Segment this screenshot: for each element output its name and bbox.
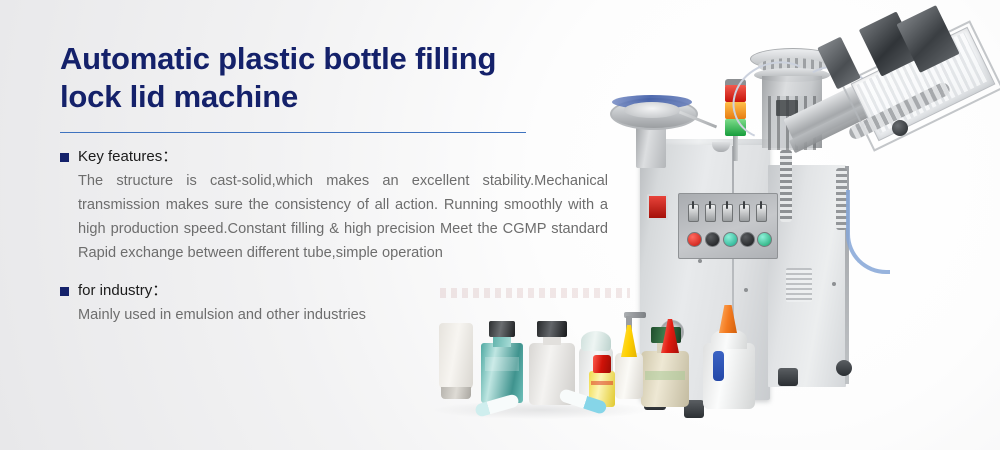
- machine-spring-column: [780, 150, 792, 222]
- bottle-white-large-blue-stripe: [713, 351, 724, 381]
- bottle-yellow-tip-cap: [621, 325, 637, 357]
- bottle-yellow-tip: [615, 353, 643, 399]
- square-bullet-icon: [60, 153, 69, 162]
- panel-switch: [705, 204, 716, 222]
- bottle-white-large: [703, 343, 755, 409]
- cabinet-screw: [744, 288, 748, 292]
- panel-button-green: [723, 232, 738, 247]
- machine-caster: [836, 360, 852, 376]
- bottle-teal-glass: [481, 343, 523, 403]
- panel-button-black: [740, 232, 755, 247]
- section-key-features: Key features： The structure is cast-soli…: [60, 147, 620, 265]
- key-features-label: Key features：: [78, 147, 177, 167]
- square-bullet-icon: [60, 287, 69, 296]
- bottle-frosted-tube-cap: [441, 387, 471, 399]
- blue-air-hose: [846, 190, 890, 274]
- conveyor-drive-wheel: [892, 120, 908, 136]
- cabinet-screw: [832, 282, 836, 286]
- page-title-line-2: lock lid machine: [60, 78, 620, 116]
- text-panel: Automatic plastic bottle filling lock li…: [60, 40, 620, 327]
- bottle-frosted-tube: [439, 323, 473, 391]
- bullet-row-key-features: Key features：: [60, 147, 620, 167]
- panel-switch: [722, 204, 733, 222]
- bottle-beige-label: [645, 371, 685, 380]
- cabinet-screw: [698, 259, 702, 263]
- page-title: Automatic plastic bottle filling lock li…: [60, 40, 620, 116]
- panel-switch: [756, 204, 767, 222]
- bottle-teal-glass-label: [485, 357, 519, 371]
- cabinet-vent-louvers: [786, 268, 812, 302]
- panel-switch: [688, 204, 699, 222]
- key-features-body: The structure is cast-solid,which makes …: [78, 169, 608, 265]
- signal-tower-pole: [733, 133, 738, 161]
- bowl-feeder-inner: [624, 102, 680, 118]
- machine-caster: [778, 368, 798, 386]
- bottle-white-frosted-cap: [537, 321, 567, 337]
- emergency-stop-button: [647, 194, 668, 220]
- page-title-line-1: Automatic plastic bottle filling: [60, 40, 620, 78]
- panel-button-green: [757, 232, 772, 247]
- bottle-teal-glass-cap: [489, 321, 515, 337]
- panel-button-red: [687, 232, 702, 247]
- title-divider: [60, 132, 526, 133]
- control-panel: [678, 193, 778, 259]
- product-banner: Automatic plastic bottle filling lock li…: [0, 0, 1000, 450]
- panel-button-black: [705, 232, 720, 247]
- for-industry-label: for industry：: [78, 281, 167, 301]
- bottle-small-label-text: [591, 381, 613, 385]
- bottle-small-red-cap: [593, 355, 611, 373]
- bottle-sample-group: [425, 295, 665, 430]
- panel-switch: [739, 204, 750, 222]
- bottle-round-frosted-cap: [581, 331, 611, 351]
